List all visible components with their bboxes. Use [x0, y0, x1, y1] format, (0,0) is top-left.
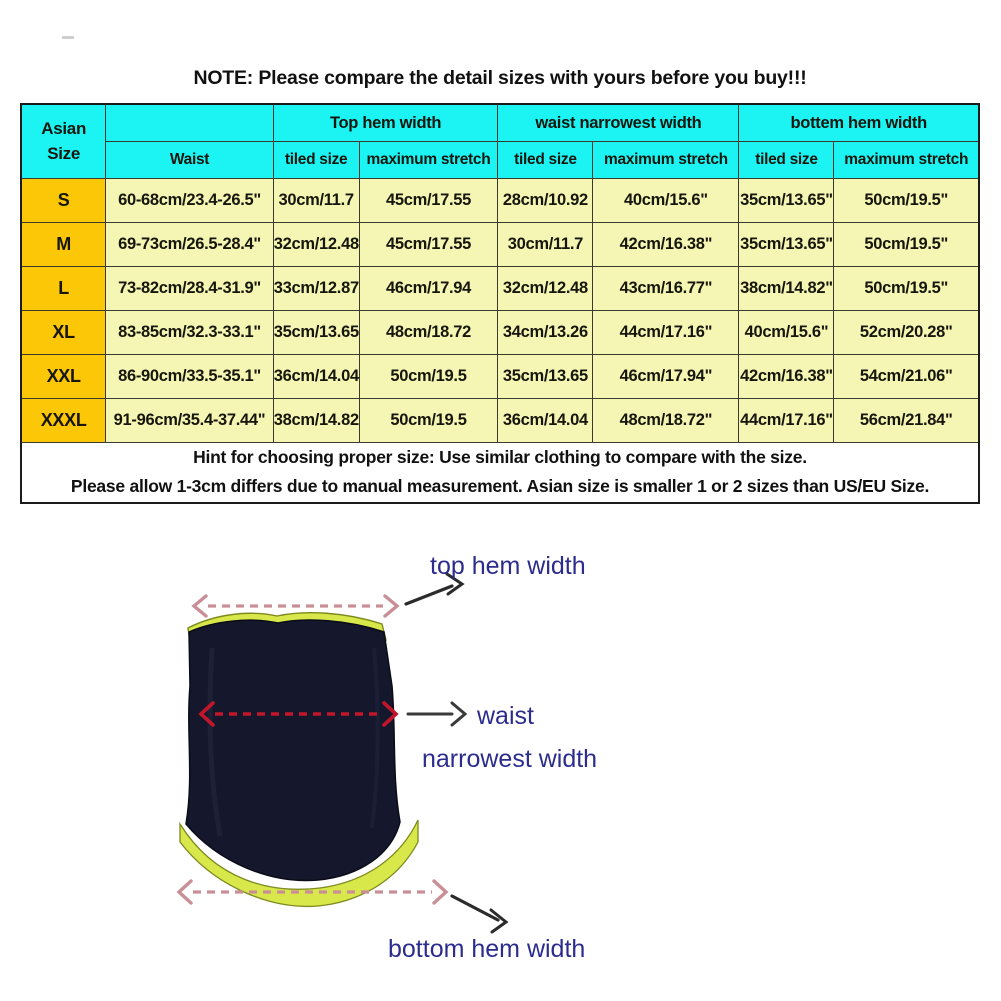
cell-size: XXXL — [21, 399, 106, 443]
size-chart-page: NOTE: Please compare the detail sizes wi… — [0, 0, 1001, 1001]
label-narrowest-width: narrowest width — [422, 745, 597, 773]
cell-top-tiled: 30cm/11.7 — [273, 179, 359, 223]
header-row-sub: Waist tiled size maximum stretch tiled s… — [21, 142, 979, 179]
header-top-maximum-stretch: maximum stretch — [359, 142, 498, 179]
header-waist: Waist — [106, 142, 273, 179]
label-waist: waist — [476, 702, 534, 730]
garment-body — [186, 620, 400, 880]
table-head: Asian Size Top hem width waist narrowest… — [21, 104, 979, 179]
cell-size: XL — [21, 311, 106, 355]
header-group-top-hem: Top hem width — [273, 104, 498, 142]
header-bottom-tiled-size: tiled size — [739, 142, 834, 179]
table-body: S 60-68cm/23.4-26.5" 30cm/11.7 45cm/17.5… — [21, 179, 979, 503]
cell-waist-max: 46cm/17.94" — [593, 355, 739, 399]
cell-bottom-tiled: 35cm/13.65" — [739, 179, 834, 223]
cell-waist-max: 40cm/15.6" — [593, 179, 739, 223]
header-top-tiled-size: tiled size — [273, 142, 359, 179]
image-artifact-mark — [62, 36, 74, 39]
cell-waist: 60-68cm/23.4-26.5" — [106, 179, 273, 223]
cell-waist-tiled: 28cm/10.92 — [498, 179, 593, 223]
cell-waist: 73-82cm/28.4-31.9" — [106, 267, 273, 311]
cell-waist-max: 44cm/17.16" — [593, 311, 739, 355]
top-hem-arrow-left — [194, 596, 206, 616]
cell-size: L — [21, 267, 106, 311]
cell-top-max: 50cm/19.5 — [359, 355, 498, 399]
cell-bottom-max: 56cm/21.84" — [834, 399, 979, 443]
cell-waist-max: 42cm/16.38" — [593, 223, 739, 267]
cell-waist-tiled: 30cm/11.7 — [498, 223, 593, 267]
header-blank-cell — [106, 104, 273, 142]
cell-waist: 69-73cm/26.5-28.4" — [106, 223, 273, 267]
cell-waist-max: 48cm/18.72" — [593, 399, 739, 443]
note-banner: NOTE: Please compare the detail sizes wi… — [20, 58, 980, 98]
hint-row: Hint for choosing proper size: Use simil… — [21, 443, 979, 503]
cell-top-tiled: 32cm/12.48 — [273, 223, 359, 267]
cell-bottom-tiled: 40cm/15.6" — [739, 311, 834, 355]
header-waist-maximum-stretch: maximum stretch — [593, 142, 739, 179]
waist-pointer — [408, 703, 465, 725]
cell-bottom-max: 50cm/19.5" — [834, 223, 979, 267]
table-row: S 60-68cm/23.4-26.5" 30cm/11.7 45cm/17.5… — [21, 179, 979, 223]
table-row: XXL 86-90cm/33.5-35.1" 36cm/14.04 50cm/1… — [21, 355, 979, 399]
cell-size: S — [21, 179, 106, 223]
waist-trainer-garment — [180, 613, 418, 907]
table-row: XL 83-85cm/32.3-33.1" 35cm/13.65 48cm/18… — [21, 311, 979, 355]
cell-top-max: 45cm/17.55 — [359, 179, 498, 223]
table-row: XXXL 91-96cm/35.4-37.44" 38cm/14.82 50cm… — [21, 399, 979, 443]
header-asian-size-line1: Asian — [22, 117, 105, 142]
cell-top-tiled: 35cm/13.65 — [273, 311, 359, 355]
label-bottom-hem-width: bottom hem width — [388, 935, 585, 963]
bottom-hem-arrow-left — [179, 881, 191, 903]
measurement-diagram-svg: top hem width waist narrowest width — [0, 536, 1001, 1001]
cell-waist: 91-96cm/35.4-37.44" — [106, 399, 273, 443]
cell-size: M — [21, 223, 106, 267]
header-asian-size-line2: Size — [22, 142, 105, 167]
header-group-bottom-hem: bottem hem width — [739, 104, 979, 142]
cell-top-max: 46cm/17.94 — [359, 267, 498, 311]
waist-pointer-head — [452, 703, 465, 725]
cell-bottom-tiled: 44cm/17.16" — [739, 399, 834, 443]
label-top-hem-width: top hem width — [430, 552, 586, 580]
cell-waist-tiled: 32cm/12.48 — [498, 267, 593, 311]
table-row: L 73-82cm/28.4-31.9" 33cm/12.87 46cm/17.… — [21, 267, 979, 311]
header-asian-size: Asian Size — [21, 104, 106, 179]
top-hem-arrow-right — [385, 596, 397, 616]
measurement-diagram: top hem width waist narrowest width — [0, 536, 1001, 1001]
cell-bottom-max: 52cm/20.28" — [834, 311, 979, 355]
header-waist-tiled-size: tiled size — [498, 142, 593, 179]
cell-waist-tiled: 34cm/13.26 — [498, 311, 593, 355]
hint-line-1: Hint for choosing proper size: Use simil… — [22, 443, 978, 472]
header-group-waist-narrowest: waist narrowest width — [498, 104, 739, 142]
cell-bottom-max: 50cm/19.5" — [834, 179, 979, 223]
cell-waist-tiled: 36cm/14.04 — [498, 399, 593, 443]
cell-top-max: 48cm/18.72 — [359, 311, 498, 355]
cell-waist: 83-85cm/32.3-33.1" — [106, 311, 273, 355]
size-chart-table: Asian Size Top hem width waist narrowest… — [20, 103, 980, 504]
cell-top-tiled: 36cm/14.04 — [273, 355, 359, 399]
header-row-groups: Asian Size Top hem width waist narrowest… — [21, 104, 979, 142]
cell-top-tiled: 33cm/12.87 — [273, 267, 359, 311]
cell-waist-tiled: 35cm/13.65 — [498, 355, 593, 399]
cell-bottom-max: 50cm/19.5" — [834, 267, 979, 311]
cell-waist: 86-90cm/33.5-35.1" — [106, 355, 273, 399]
note-text: NOTE: Please compare the detail sizes wi… — [193, 67, 806, 90]
top-hem-pointer-line — [406, 586, 452, 604]
cell-top-tiled: 38cm/14.82 — [273, 399, 359, 443]
cell-bottom-tiled: 38cm/14.82" — [739, 267, 834, 311]
table-row: M 69-73cm/26.5-28.4" 32cm/12.48 45cm/17.… — [21, 223, 979, 267]
hint-block: Hint for choosing proper size: Use simil… — [21, 443, 979, 503]
cell-top-max: 50cm/19.5 — [359, 399, 498, 443]
bottom-hem-arrow-right — [434, 881, 446, 903]
cell-bottom-tiled: 35cm/13.65" — [739, 223, 834, 267]
cell-bottom-tiled: 42cm/16.38" — [739, 355, 834, 399]
cell-size: XXL — [21, 355, 106, 399]
header-bottom-maximum-stretch: maximum stretch — [834, 142, 979, 179]
hint-line-2: Please allow 1-3cm differs due to manual… — [22, 472, 978, 501]
bottom-hem-pointer-line — [452, 896, 498, 920]
cell-bottom-max: 54cm/21.06" — [834, 355, 979, 399]
cell-top-max: 45cm/17.55 — [359, 223, 498, 267]
cell-waist-max: 43cm/16.77" — [593, 267, 739, 311]
bottom-hem-pointer — [452, 896, 506, 932]
